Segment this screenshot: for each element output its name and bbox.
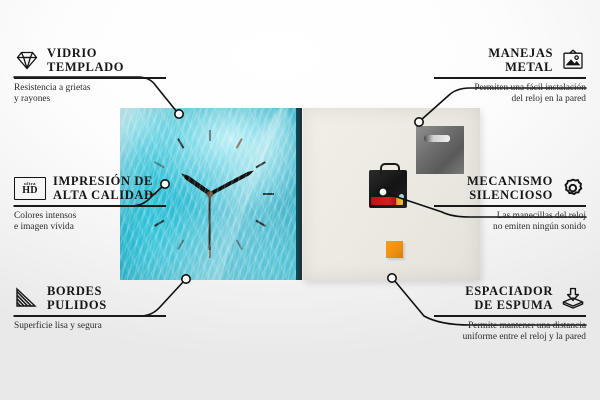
mechanism-hanging-loop [380,163,400,175]
callout-title: MECANISMO SILENCIOSO [467,174,553,202]
callout-espaciador-espuma[interactable]: ESPACIADOR DE ESPUMA Permite mantener un… [434,284,586,343]
callout-divider [14,315,166,317]
hanger-slot [424,135,450,142]
callout-divider [434,205,586,207]
beveled-edge-icon [14,287,40,309]
callout-impresion-alta-calidad[interactable]: ultra HD IMPRESIÓN DE ALTA CALIDAD Color… [14,174,166,233]
glass-edge [296,108,302,280]
callout-manejas-metal[interactable]: MANEJAS METAL Permiten una fácil instala… [434,46,586,105]
callout-title: BORDES PULIDOS [47,284,107,312]
callout-subtitle: Permite mantener una distancia uniforme … [434,321,586,344]
product-photo [120,108,480,280]
clock-mechanism [369,170,407,208]
clock-center-hub [207,191,213,197]
foam-spacer [386,241,403,258]
clock-second-hand [209,194,211,250]
callout-divider [14,205,166,207]
callout-divider [434,315,586,317]
callout-title: ESPACIADOR DE ESPUMA [465,284,553,312]
callout-subtitle: Resistencia a grietas y rayones [14,83,166,106]
infographic-canvas: VIDRIO TEMPLADO Resistencia a grietas y … [0,0,600,400]
clock-minute-hand [209,169,255,196]
callout-subtitle: Las manecillas del reloj no emiten ningú… [434,211,586,234]
callout-divider [434,77,586,79]
gear-icon [560,177,586,199]
callout-subtitle: Superficie lisa y segura [14,321,166,332]
diamond-icon [14,49,40,71]
picture-frame-hanger-icon [560,49,586,71]
callout-bordes-pulidos[interactable]: BORDES PULIDOS Superficie lisa y segura [14,284,166,332]
callout-subtitle: Permiten una fácil instalación del reloj… [434,83,586,106]
callout-vidrio-templado[interactable]: VIDRIO TEMPLADO Resistencia a grietas y … [14,46,166,105]
callout-title: VIDRIO TEMPLADO [47,46,124,74]
arrow-onto-pad-icon [560,287,586,309]
mechanism-dial [399,194,404,199]
callout-subtitle: Colores intensos e imagen vívida [14,211,166,234]
callout-title: IMPRESIÓN DE ALTA CALIDAD [53,174,154,202]
ultra-hd-icon-large-text: HD [22,186,38,196]
callout-title: MANEJAS METAL [488,46,553,74]
clock-hour-hand [179,171,211,196]
callout-divider [14,77,166,79]
callout-mecanismo-silencioso[interactable]: MECANISMO SILENCIOSO Las manecillas del … [434,174,586,233]
battery [371,197,403,205]
ultra-hd-icon: ultra HD [14,177,46,200]
metal-hanger-plate [416,126,464,174]
